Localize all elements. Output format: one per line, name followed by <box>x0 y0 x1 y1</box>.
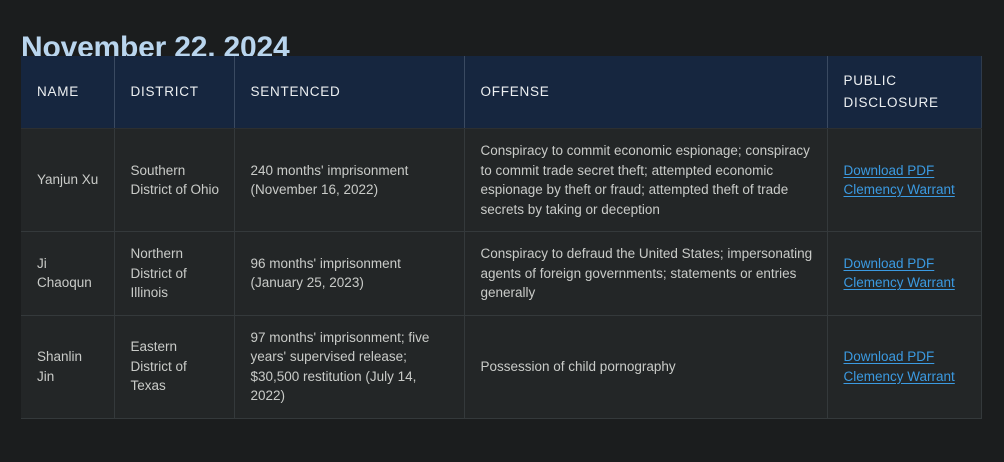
clemency-table-container: NAME DISTRICT SENTENCED OFFENSE PUBLIC D… <box>21 56 981 419</box>
column-header-offense: OFFENSE <box>464 56 827 129</box>
cell-public-disclosure: Download PDF Clemency Warrant <box>827 129 981 232</box>
cell-public-disclosure: Download PDF Clemency Warrant <box>827 315 981 418</box>
page-root: November 22, 2024 NAME DISTRICT SENTENCE… <box>0 0 1004 462</box>
cell-sentenced: 240 months' imprisonment (November 16, 2… <box>234 129 464 232</box>
download-pdf-clemency-warrant-link[interactable]: Download PDF Clemency Warrant <box>844 163 955 198</box>
cell-name: Ji Chaoqun <box>21 232 114 316</box>
table-row: Shanlin Jin Eastern District of Texas 97… <box>21 315 981 418</box>
cell-sentenced: 96 months' imprisonment (January 25, 202… <box>234 232 464 316</box>
table-row: Yanjun Xu Southern District of Ohio 240 … <box>21 129 981 232</box>
table-row: Ji Chaoqun Northern District of Illinois… <box>21 232 981 316</box>
cell-district: Northern District of Illinois <box>114 232 234 316</box>
table-header: NAME DISTRICT SENTENCED OFFENSE PUBLIC D… <box>21 56 981 129</box>
column-header-public-disclosure: PUBLIC DISCLOSURE <box>827 56 981 129</box>
cell-public-disclosure: Download PDF Clemency Warrant <box>827 232 981 316</box>
download-pdf-clemency-warrant-link[interactable]: Download PDF Clemency Warrant <box>844 349 955 384</box>
column-header-name: NAME <box>21 56 114 129</box>
cell-name: Shanlin Jin <box>21 315 114 418</box>
cell-offense: Conspiracy to defraud the United States;… <box>464 232 827 316</box>
cell-name: Yanjun Xu <box>21 129 114 232</box>
clemency-table: NAME DISTRICT SENTENCED OFFENSE PUBLIC D… <box>21 56 982 419</box>
column-header-district: DISTRICT <box>114 56 234 129</box>
table-header-row: NAME DISTRICT SENTENCED OFFENSE PUBLIC D… <box>21 56 981 129</box>
table-body: Yanjun Xu Southern District of Ohio 240 … <box>21 129 981 419</box>
cell-offense: Conspiracy to commit economic espionage;… <box>464 129 827 232</box>
cell-sentenced: 97 months' imprisonment; five years' sup… <box>234 315 464 418</box>
cell-district: Eastern District of Texas <box>114 315 234 418</box>
column-header-sentenced: SENTENCED <box>234 56 464 129</box>
download-pdf-clemency-warrant-link[interactable]: Download PDF Clemency Warrant <box>844 256 955 291</box>
cell-district: Southern District of Ohio <box>114 129 234 232</box>
cell-offense: Possession of child pornography <box>464 315 827 418</box>
